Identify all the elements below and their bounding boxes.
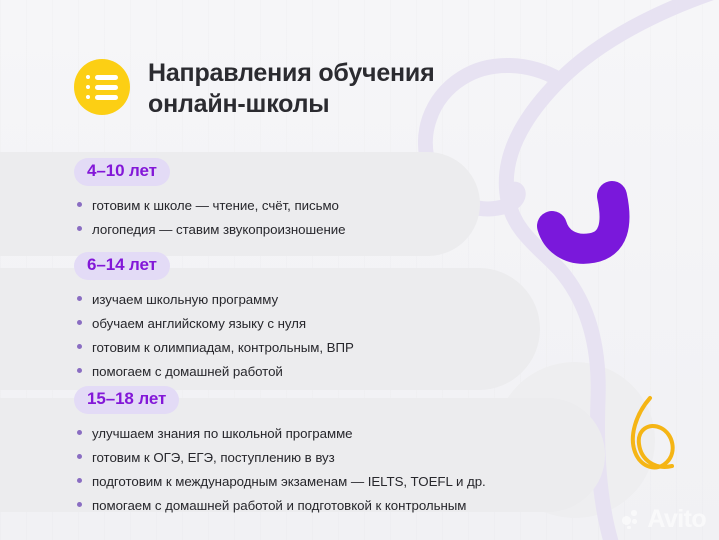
list-item: улучшаем знания по школьной программе [74, 425, 486, 442]
avito-watermark: Avito [622, 507, 706, 532]
list-icon-bar [95, 75, 118, 80]
bullet-dot-icon [77, 296, 82, 301]
list-icon-dot [86, 75, 90, 79]
list-item: готовим к школе — чтение, счёт, письмо [74, 197, 346, 214]
age-section-15-18: 15–18 лет улучшаем знания по школьной пр… [74, 386, 486, 521]
avito-logo-icon [622, 510, 642, 530]
list-item: изучаем школьную программу [74, 291, 354, 308]
avito-wordmark: Avito [647, 507, 706, 532]
feature-list: изучаем школьную программу обучаем англи… [74, 291, 354, 380]
list-item-label: готовим к ОГЭ, ЕГЭ, поступлению в вуз [92, 449, 335, 466]
list-item: готовим к олимпиадам, контрольным, ВПР [74, 339, 354, 356]
bullet-dot-icon [77, 320, 82, 325]
list-item-label: изучаем школьную программу [92, 291, 278, 308]
list-item-label: помогаем с домашней работой и подготовко… [92, 497, 466, 514]
bullet-dot-icon [77, 454, 82, 459]
list-item: помогаем с домашней работой [74, 363, 354, 380]
age-badge: 6–14 лет [74, 252, 170, 280]
list-item-label: готовим к школе — чтение, счёт, письмо [92, 197, 339, 214]
bullet-dot-icon [77, 202, 82, 207]
list-icon-row [86, 85, 118, 90]
list-item-label: подготовим к международным экзаменам — I… [92, 473, 486, 490]
list-item: готовим к ОГЭ, ЕГЭ, поступлению в вуз [74, 449, 486, 466]
list-item-label: логопедия — ставим звукопроизношение [92, 221, 346, 238]
list-item: подготовим к международным экзаменам — I… [74, 473, 486, 490]
age-badge: 15–18 лет [74, 386, 179, 414]
list-icon-bar [95, 85, 118, 90]
list-icon [74, 59, 130, 115]
list-item-label: обучаем английскому языку с нуля [92, 315, 306, 332]
list-icon-row [86, 75, 118, 80]
list-item: логопедия — ставим звукопроизношение [74, 221, 346, 238]
poster-content: Направления обучения онлайн-школы 4–10 л… [0, 0, 719, 540]
list-item-label: готовим к олимпиадам, контрольным, ВПР [92, 339, 354, 356]
list-icon-dot [86, 85, 90, 89]
list-icon-dot [86, 95, 90, 99]
list-icon-row [86, 95, 118, 100]
feature-list: улучшаем знания по школьной программе го… [74, 425, 486, 514]
bullet-dot-icon [77, 368, 82, 373]
bullet-dot-icon [77, 430, 82, 435]
bullet-dot-icon [77, 502, 82, 507]
poster-canvas: Направления обучения онлайн-школы 4–10 л… [0, 0, 719, 540]
list-item: обучаем английскому языку с нуля [74, 315, 354, 332]
feature-list: готовим к школе — чтение, счёт, письмо л… [74, 197, 346, 238]
page-title: Направления обучения онлайн-школы [148, 56, 435, 119]
list-item-label: помогаем с домашней работой [92, 363, 283, 380]
bullet-dot-icon [77, 226, 82, 231]
list-item: помогаем с домашней работой и подготовко… [74, 497, 486, 514]
poster-header: Направления обучения онлайн-школы [74, 56, 435, 119]
list-icon-bar [95, 95, 118, 100]
bullet-dot-icon [77, 478, 82, 483]
age-badge: 4–10 лет [74, 158, 170, 186]
age-section-4-10: 4–10 лет готовим к школе — чтение, счёт,… [74, 158, 346, 245]
list-item-label: улучшаем знания по школьной программе [92, 425, 353, 442]
bullet-dot-icon [77, 344, 82, 349]
age-section-6-14: 6–14 лет изучаем школьную программу обуч… [74, 252, 354, 387]
